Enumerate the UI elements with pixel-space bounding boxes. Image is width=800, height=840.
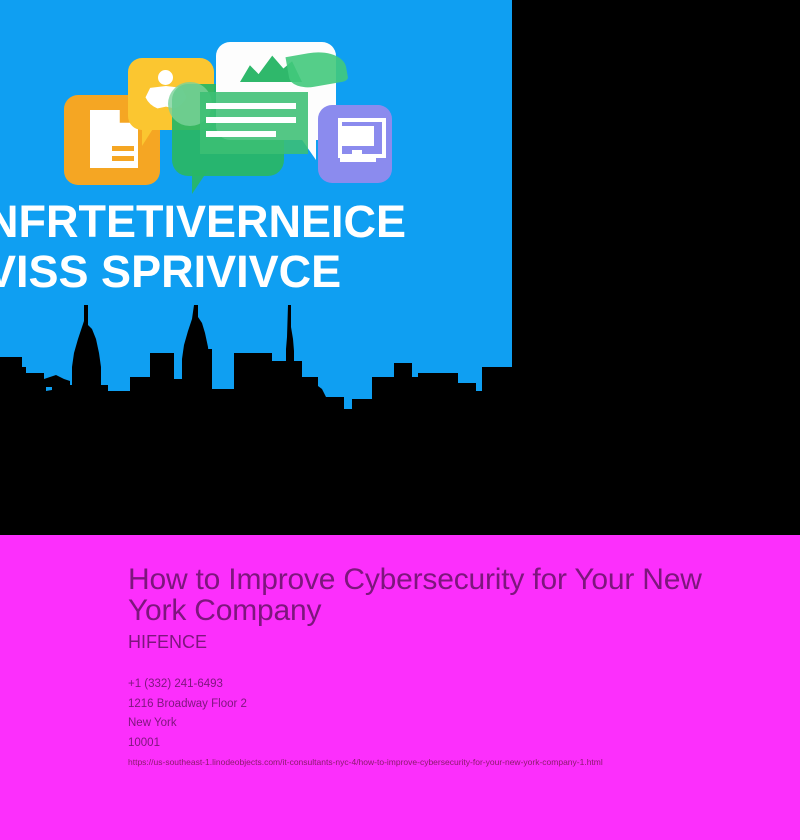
speech-bubble-tail: [192, 170, 208, 194]
document-text-line: [112, 156, 134, 161]
document-text-line: [112, 146, 134, 151]
city-skyline-silhouette: [0, 305, 512, 535]
contact-info-block: +1 (332) 241-6493 1216 Broadway Floor 2 …: [128, 675, 728, 753]
speech-bubble-tail: [142, 124, 156, 146]
panel-text-line: [206, 117, 296, 123]
contact-phone: +1 (332) 241-6493: [128, 675, 728, 695]
hero-image: NFRTETIVERNEICE VISS SPRIVIVCE: [0, 0, 512, 535]
text-panel-shape: [200, 92, 308, 154]
contact-city: New York: [128, 714, 728, 734]
source-url-link[interactable]: https://us-southeast-1.linodeobjects.com…: [128, 757, 603, 768]
page-title: How to Improve Cybersecurity for Your Ne…: [128, 564, 728, 626]
monitor-screen-icon: [342, 126, 374, 146]
contact-street: 1216 Broadway Floor 2: [128, 695, 728, 715]
hero-headline-line-2: VISS SPRIVIVCE: [0, 247, 512, 297]
hero-headline-line-1: NFRTETIVERNEICE: [0, 197, 512, 247]
page-root: NFRTETIVERNEICE VISS SPRIVIVCE: [0, 0, 800, 840]
hero-headline: NFRTETIVERNEICE VISS SPRIVIVCE: [0, 197, 512, 297]
person-head-icon: [158, 70, 173, 85]
monitor-base-icon: [340, 157, 376, 162]
brand-name: HIFENCE: [128, 632, 207, 652]
contact-zipcode: 10001: [128, 734, 728, 754]
black-background-area: [512, 0, 800, 535]
icon-cluster: [0, 0, 512, 210]
panel-text-line: [206, 131, 276, 137]
content-panel: How to Improve Cybersecurity for Your Ne…: [0, 535, 800, 840]
panel-text-line: [206, 103, 296, 109]
